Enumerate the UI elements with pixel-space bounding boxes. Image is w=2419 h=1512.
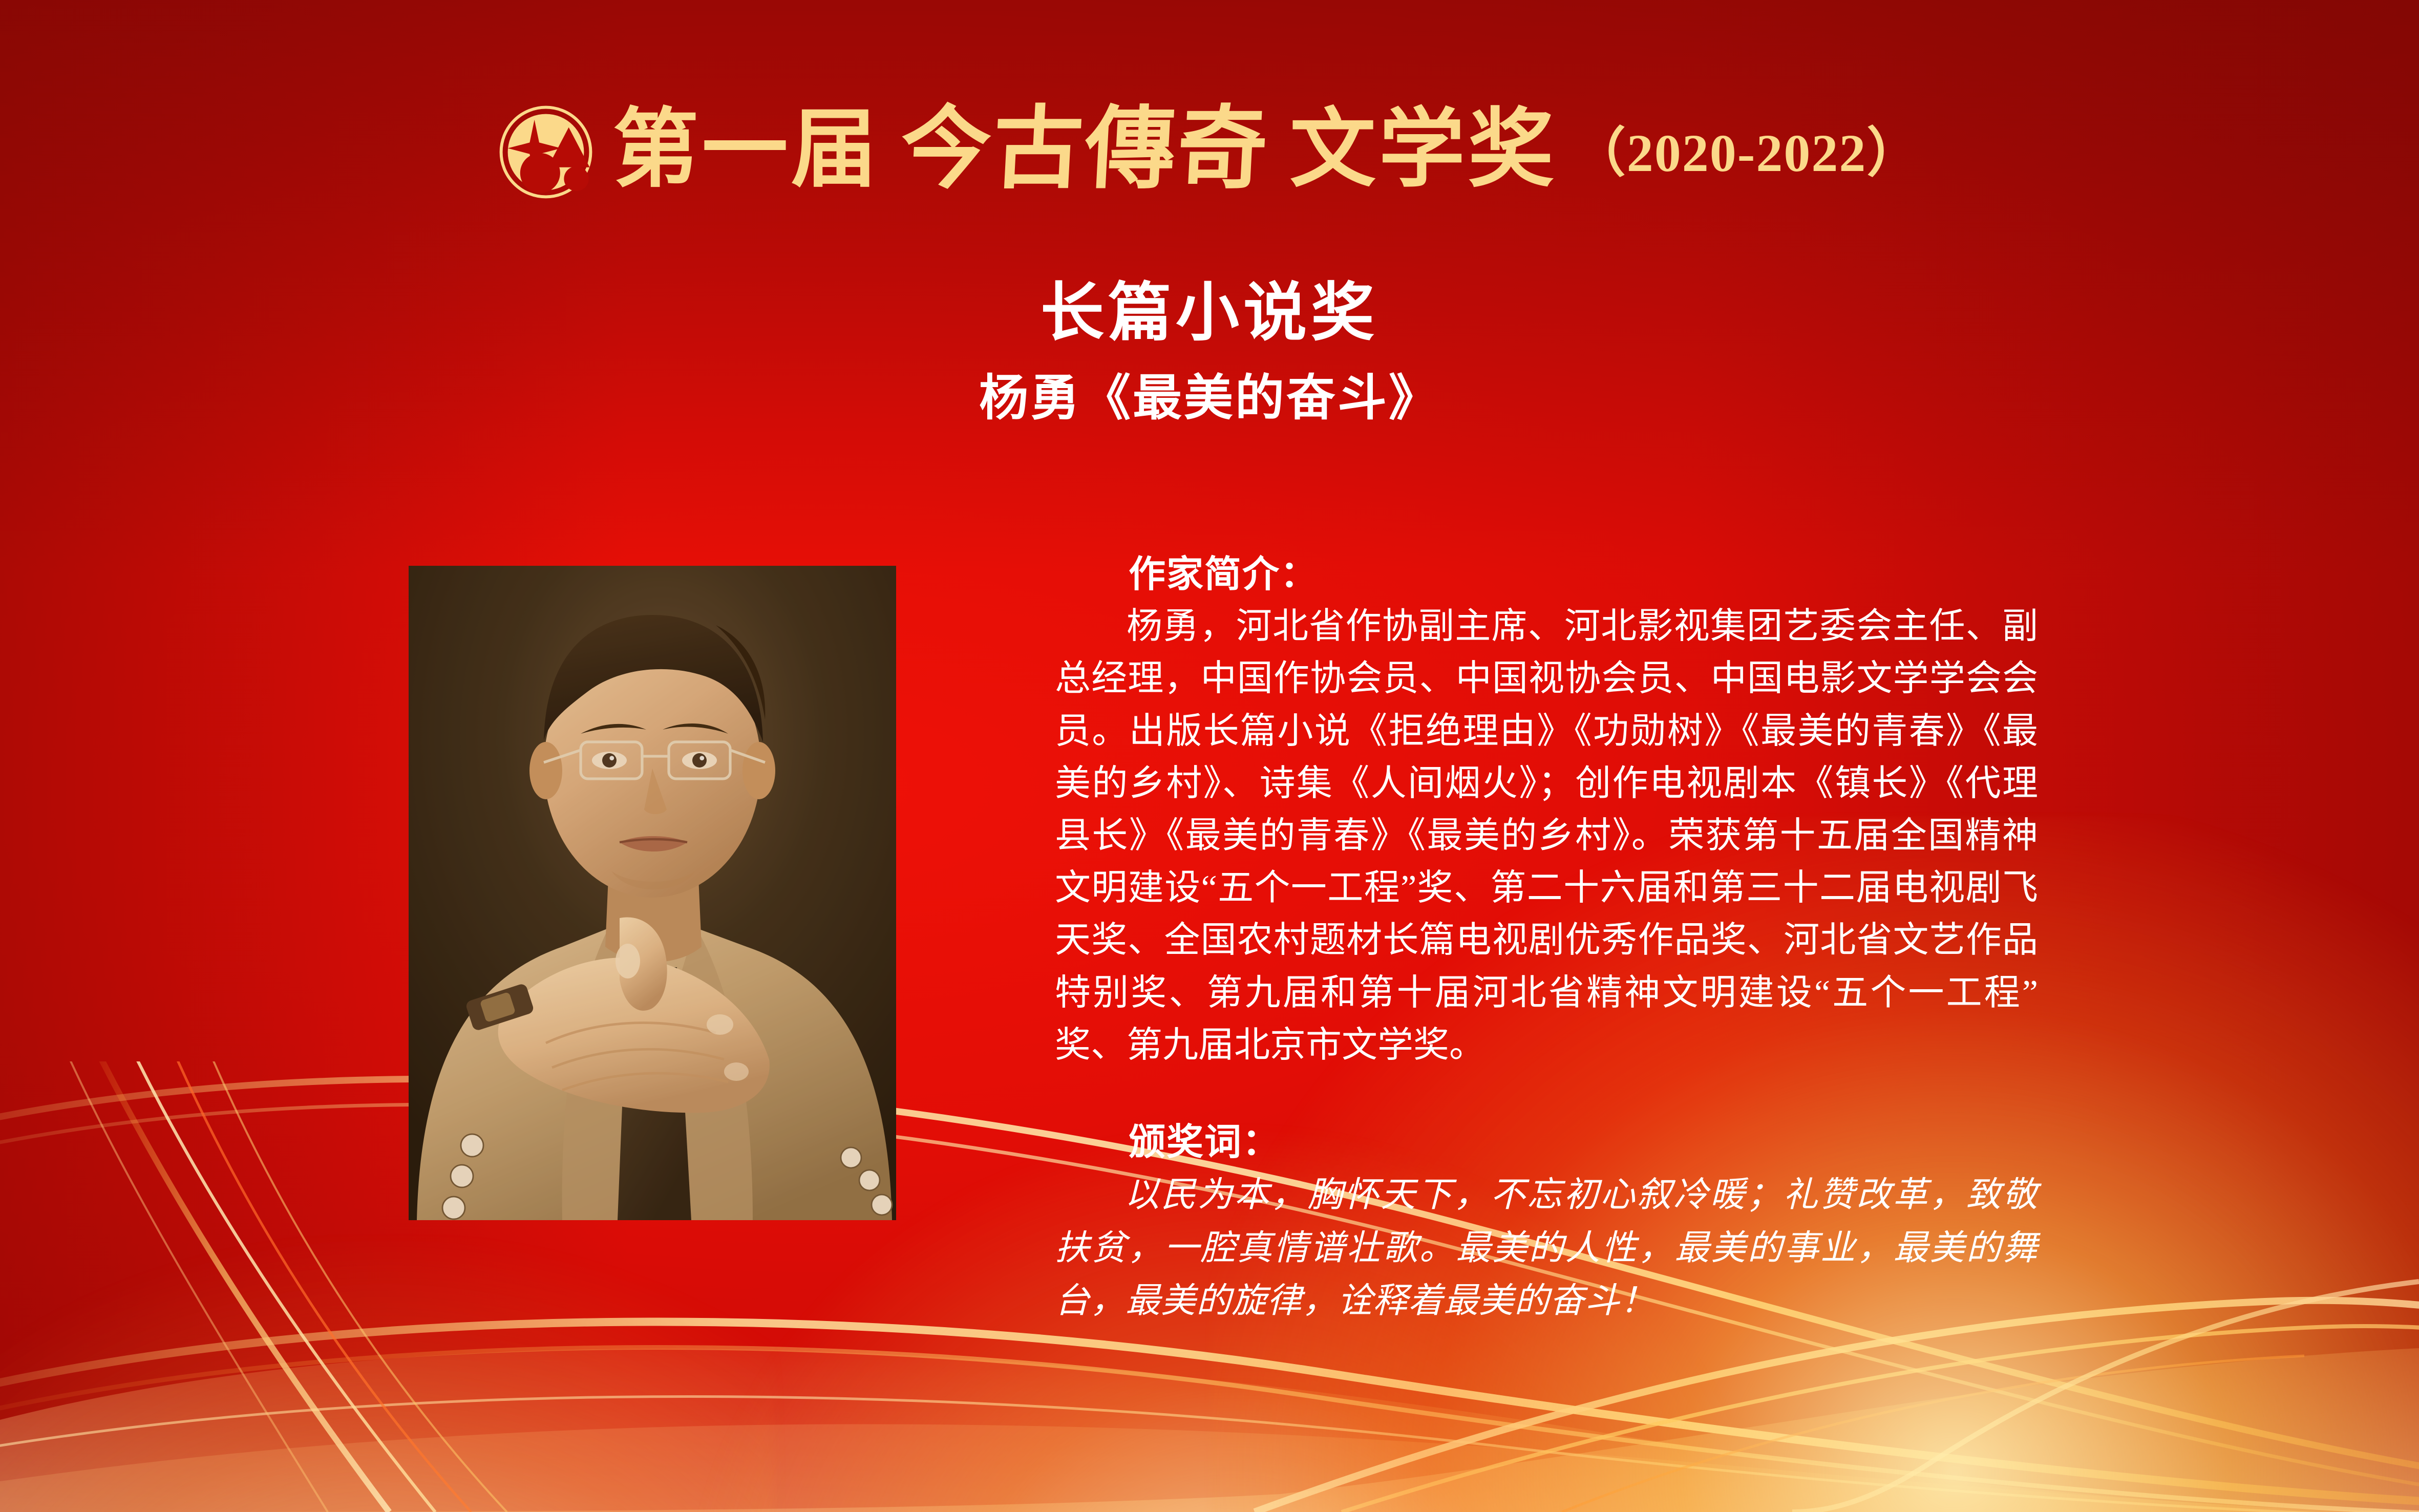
- title-brand: 今古傳奇: [891, 105, 1279, 195]
- bio-heading: 作家简介：: [1055, 552, 2038, 598]
- author-info-column: 作家简介： 杨勇，河北省作协副主席、河北影视集团艺委会主任、副总经理，中国作协会…: [1055, 552, 2038, 1327]
- citation-heading: 颁奖词：: [1055, 1120, 2038, 1165]
- award-emblem-icon: [498, 104, 593, 200]
- author-portrait-photo: [409, 566, 896, 1220]
- bio-paragraph: 杨勇，河北省作协副主席、河北影视集团艺委会主任、副总经理，中国作协会员、中国视协…: [1055, 601, 2038, 1072]
- title-edition: 第一届: [613, 107, 880, 193]
- glow-left: [0, 1240, 774, 1512]
- award-block: 长篇小说奖 杨勇《最美的奋斗》: [0, 276, 2419, 428]
- award-slide: 第一届 今古傳奇 文学奖 （2020-2022） 长篇小说奖 杨勇《最美的奋斗》: [0, 0, 2419, 1512]
- bio-section: 作家简介： 杨勇，河北省作协副主席、河北影视集团艺委会主任、副总经理，中国作协会…: [1055, 552, 2038, 1072]
- citation-section: 颁奖词： 以民为本，胸怀天下，不忘初心叙冷暖；礼赞改革，致敬扶贫，一腔真情谱壮歌…: [1055, 1120, 2038, 1327]
- award-winning-work: 杨勇《最美的奋斗》: [0, 369, 2419, 428]
- title-award-name: 文学奖: [1290, 107, 1557, 193]
- award-category: 长篇小说奖: [0, 276, 2419, 350]
- title-years: （2020-2022）: [1573, 127, 1921, 180]
- slide-title-row: 第一届 今古傳奇 文学奖 （2020-2022）: [0, 100, 2419, 200]
- citation-paragraph: 以民为本，胸怀天下，不忘初心叙冷暖；礼赞改革，致敬扶贫，一腔真情谱壮歌。最美的人…: [1055, 1168, 2038, 1327]
